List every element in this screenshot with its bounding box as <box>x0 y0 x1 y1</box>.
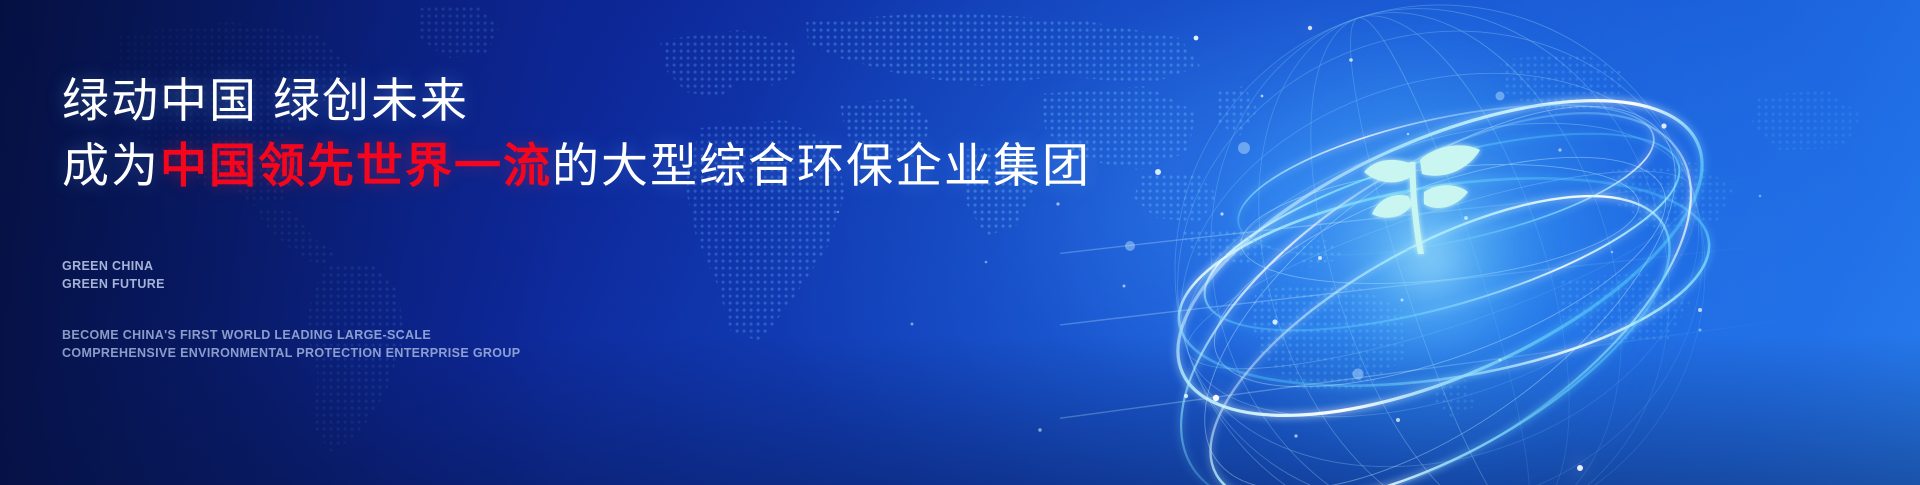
globe-wireframe-icon <box>1060 0 1820 485</box>
headline-block: 绿动中国 绿创未来 成为中国领先世界一流的大型综合环保企业集团 <box>62 72 1062 195</box>
hero-banner: 绿动中国 绿创未来 成为中国领先世界一流的大型综合环保企业集团 GREEN CH… <box>0 0 1920 485</box>
tagline-green-future: GREEN FUTURE <box>62 276 520 294</box>
sprout-seedling-icon <box>1352 130 1492 280</box>
headline-suffix: 的大型综合环保企业集团 <box>552 139 1091 192</box>
tagline-green-china: GREEN CHINA <box>62 258 520 276</box>
tagline-mission-line-2: COMPREHENSIVE ENVIRONMENTAL PROTECTION E… <box>62 345 520 363</box>
globe-core-glow <box>1315 145 1545 375</box>
headline-prefix: 成为 <box>62 139 160 192</box>
headline-highlight: 中国领先世界一流 <box>160 139 552 192</box>
tagline-group-mission: BECOME CHINA'S FIRST WORLD LEADING LARGE… <box>62 327 520 362</box>
tagline-block: GREEN CHINA GREEN FUTURE BECOME CHINA'S … <box>62 258 520 362</box>
tagline-group-slogan: GREEN CHINA GREEN FUTURE <box>62 258 520 293</box>
tagline-mission-line-1: BECOME CHINA'S FIRST WORLD LEADING LARGE… <box>62 327 520 345</box>
globe-graphic <box>1060 0 1820 485</box>
globe-outer-glow <box>1180 10 1700 485</box>
headline-line-2: 成为中国领先世界一流的大型综合环保企业集团 <box>62 137 1062 194</box>
headline-line-1: 绿动中国 绿创未来 <box>62 72 1062 129</box>
